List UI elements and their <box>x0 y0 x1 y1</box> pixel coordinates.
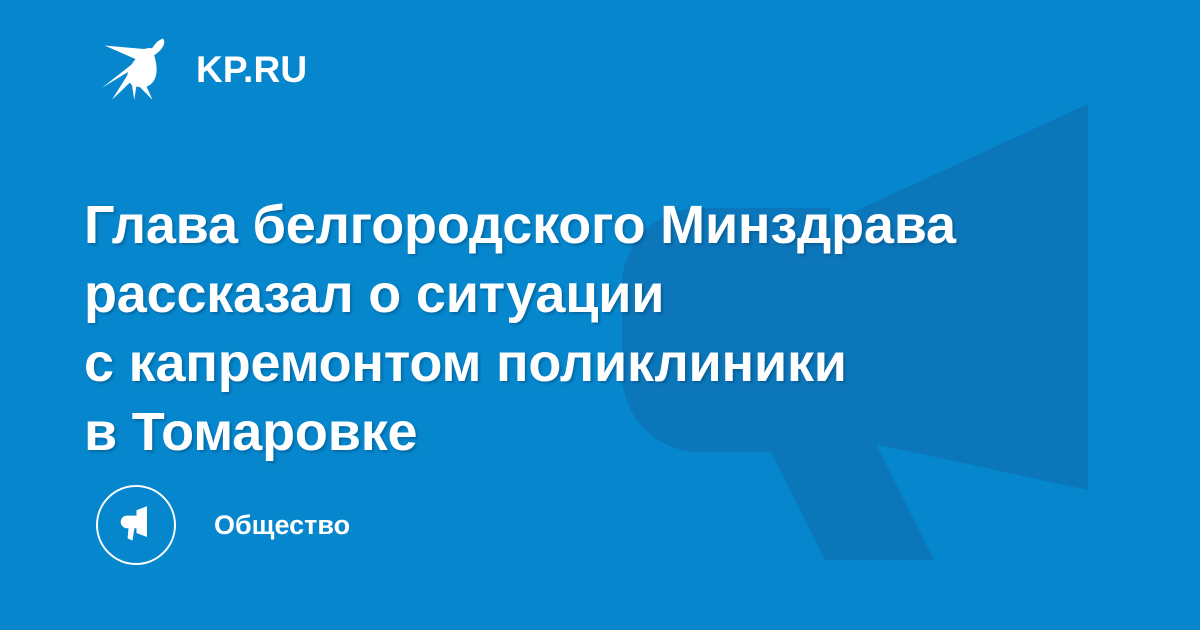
share-card: KP.RU Глава белгородского Минздрава расс… <box>0 0 1200 630</box>
page-title: Глава белгородского Минздрава рассказал … <box>84 191 1094 467</box>
brand-name: KP.RU <box>196 51 307 88</box>
headline-line-2: рассказал о ситуации <box>84 260 1094 329</box>
headline-line-4: в Томаровке <box>84 398 1094 467</box>
headline-line-3: с капремонтом поликлиники <box>84 329 1094 398</box>
megaphone-icon <box>115 504 157 546</box>
brand-logo[interactable]: KP.RU <box>100 33 307 105</box>
category-label: Общество <box>214 512 350 539</box>
category-badge[interactable]: Общество <box>96 485 350 565</box>
headline-line-1: Глава белгородского Минздрава <box>84 191 1094 260</box>
category-icon-circle <box>96 485 176 565</box>
swallow-bird-logo-icon <box>100 36 174 102</box>
